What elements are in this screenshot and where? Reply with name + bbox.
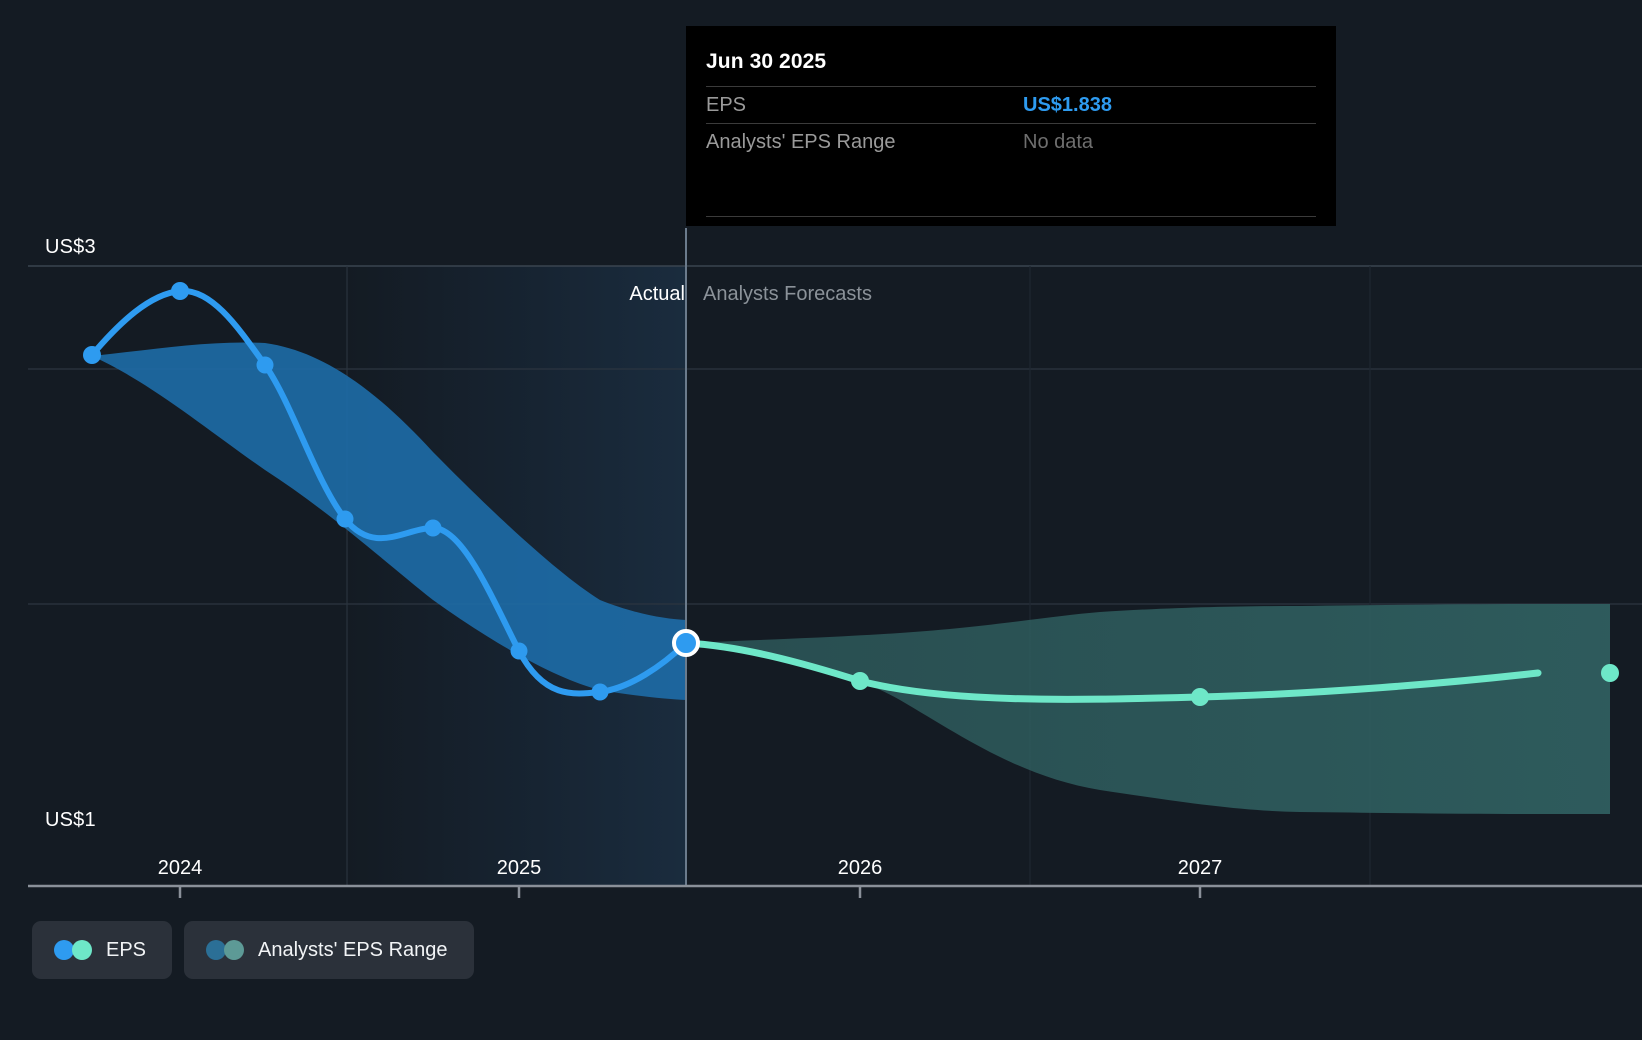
tooltip-row-analysts-range: Analysts' EPS Range No data bbox=[706, 123, 1316, 160]
x-axis-tick-label-2027: 2027 bbox=[1178, 857, 1223, 880]
y-axis-label-top: US$3 bbox=[45, 236, 96, 259]
legend-swatch-eps-icon bbox=[54, 940, 92, 960]
legend-label-eps: EPS bbox=[106, 939, 146, 962]
legend-label-analysts-range: Analysts' EPS Range bbox=[258, 939, 447, 962]
data-point-actual[interactable] bbox=[592, 684, 609, 701]
tooltip-row-eps: EPS US$1.838 bbox=[706, 86, 1316, 123]
x-axis-tick-label-2026: 2026 bbox=[838, 857, 883, 880]
y-axis-label-bottom: US$1 bbox=[45, 809, 96, 832]
tooltip-row-value: US$1.838 bbox=[1023, 94, 1316, 117]
x-axis-tick-label-2024: 2024 bbox=[158, 857, 203, 880]
legend-item-eps[interactable]: EPS bbox=[32, 921, 172, 979]
legend-item-analysts-range[interactable]: Analysts' EPS Range bbox=[184, 921, 473, 979]
tooltip-row-label: EPS bbox=[706, 94, 746, 117]
tooltip-spacer bbox=[706, 160, 1316, 216]
tooltip-row-value: No data bbox=[1023, 131, 1316, 154]
forecast-range-band bbox=[686, 604, 1610, 814]
chart-legend: EPS Analysts' EPS Range bbox=[32, 921, 474, 979]
phase-label-actual: Actual bbox=[629, 283, 685, 306]
data-point-actual[interactable] bbox=[425, 520, 442, 537]
data-point-actual[interactable] bbox=[83, 346, 101, 364]
tooltip-footer-divider bbox=[706, 216, 1316, 217]
tooltip-row-label: Analysts' EPS Range bbox=[706, 131, 895, 154]
hovered-data-point[interactable] bbox=[674, 631, 698, 655]
chart-root: US$3 US$1 2024 2025 2026 2027 Actual Ana… bbox=[0, 0, 1642, 1040]
data-point-forecast[interactable] bbox=[851, 672, 869, 690]
tooltip-date: Jun 30 2025 bbox=[706, 46, 1316, 86]
legend-swatch-analysts-range-icon bbox=[206, 940, 244, 960]
phase-label-forecast: Analysts Forecasts bbox=[703, 283, 872, 306]
x-axis-tick-label-2025: 2025 bbox=[497, 857, 542, 880]
data-point-actual[interactable] bbox=[337, 511, 354, 528]
data-point-actual[interactable] bbox=[511, 643, 528, 660]
chart-tooltip: Jun 30 2025 EPS US$1.838 Analysts' EPS R… bbox=[686, 26, 1336, 226]
data-point-actual[interactable] bbox=[257, 357, 274, 374]
data-point-forecast[interactable] bbox=[1191, 688, 1209, 706]
data-point-actual[interactable] bbox=[171, 282, 189, 300]
data-point-forecast[interactable] bbox=[1601, 664, 1619, 682]
